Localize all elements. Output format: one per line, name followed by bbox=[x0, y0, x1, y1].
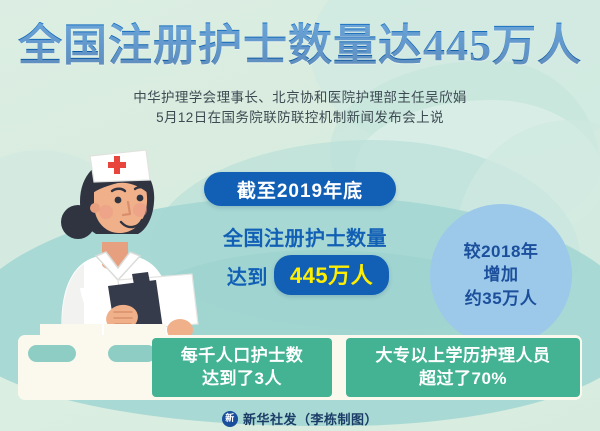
stat-value: 445万人 bbox=[274, 255, 389, 295]
footer-credit: 新 新华社发（李栋制图） bbox=[0, 409, 600, 428]
stat-label: 全国注册护士数量 bbox=[180, 222, 430, 251]
circle-line-3: 约35万人 bbox=[465, 287, 537, 310]
stat-box-left-line-1: 每千人口护士数 bbox=[181, 345, 304, 368]
stat-box-education-level: 大专以上学历护理人员 超过了70% bbox=[346, 338, 580, 397]
subtitle-line-1: 中华护理学会理事长、北京协和医院护理部主任吴欣娟 bbox=[0, 88, 600, 108]
subtitle: 中华护理学会理事长、北京协和医院护理部主任吴欣娟 5月12日在国务院联防联控机制… bbox=[0, 88, 600, 128]
credit-text: 新华社发（李栋制图） bbox=[243, 409, 378, 428]
stat-value-row: 达到 445万人 bbox=[186, 255, 430, 295]
stat-box-right-line-1: 大专以上学历护理人员 bbox=[376, 345, 551, 368]
circle-stat: 较2018年 增加 约35万人 bbox=[430, 204, 572, 346]
subtitle-line-2: 5月12日在国务院联防联控机制新闻发布会上说 bbox=[0, 108, 600, 128]
infographic-poster: 全国注册护士数量达445万人 中华护理学会理事长、北京协和医院护理部主任吴欣娟 … bbox=[0, 0, 600, 431]
stat-box-nurses-per-thousand: 每千人口护士数 达到了3人 bbox=[152, 338, 332, 397]
deco-pill-left bbox=[28, 345, 76, 362]
stat-box-left-line-2: 达到了3人 bbox=[202, 368, 282, 391]
stat-box-right-line-2: 超过了70% bbox=[419, 368, 507, 391]
date-pill: 截至2019年底 bbox=[204, 172, 396, 206]
circle-line-2: 增加 bbox=[484, 263, 519, 286]
xinhua-logo-icon: 新 bbox=[222, 411, 238, 427]
circle-line-1: 较2018年 bbox=[464, 240, 539, 263]
page-title: 全国注册护士数量达445万人 bbox=[0, 22, 600, 70]
deco-pill-right bbox=[108, 345, 156, 362]
stat-lead: 达到 bbox=[227, 261, 268, 290]
